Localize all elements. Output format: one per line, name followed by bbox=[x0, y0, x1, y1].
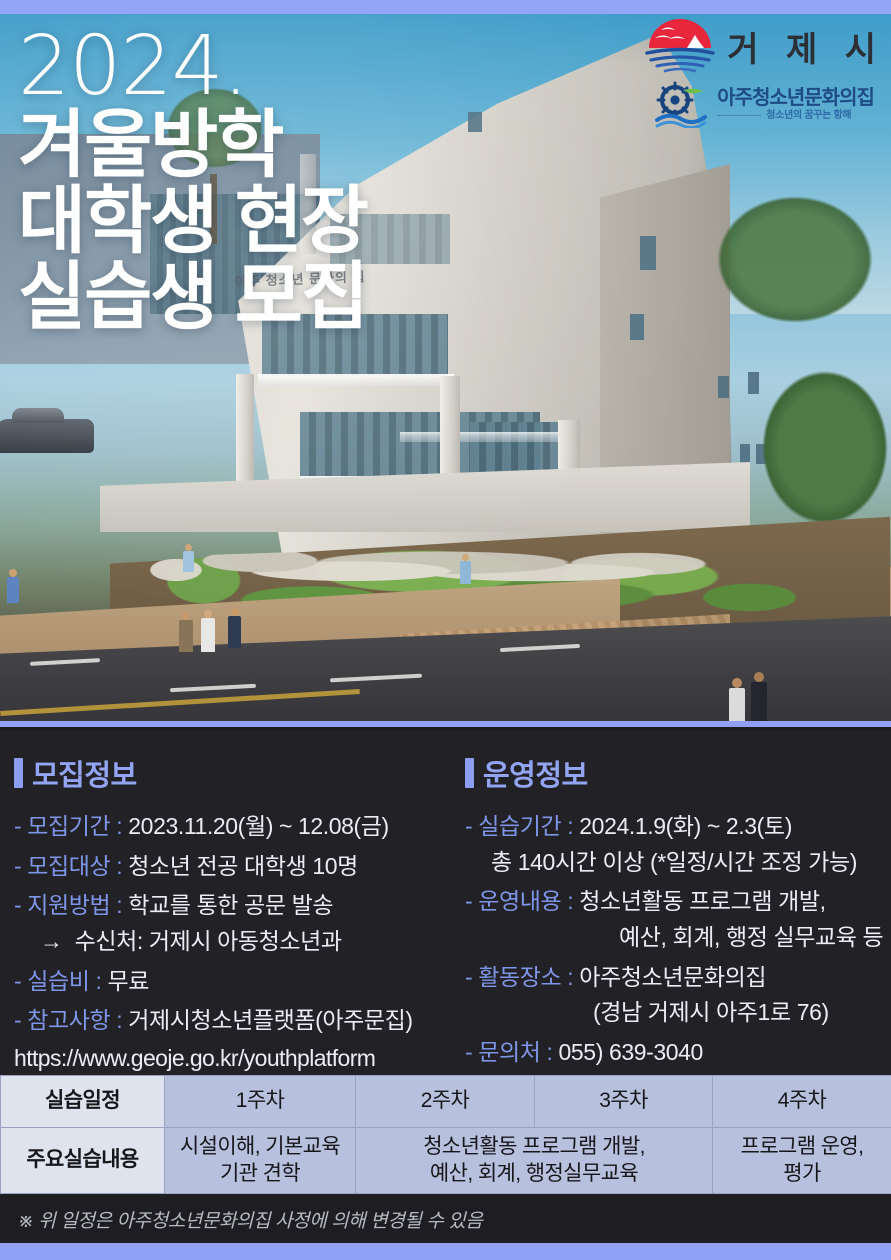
headline-year: 2024. bbox=[18, 28, 367, 107]
poster-headline: 2024. 겨울방학 대학생 현장 실습생 모집 bbox=[18, 28, 367, 335]
bottom-accent-bar bbox=[0, 1243, 891, 1260]
recruit-item-notes: - 참고사항 : 거제시청소년플랫폼(아주문집) bbox=[14, 1004, 464, 1037]
table-cell-week23-content: 청소년활동 프로그램 개발,예산, 회계, 행정실무교육 bbox=[356, 1128, 713, 1194]
table-cell-week1-content: 시설이해, 기본교육기관 견학 bbox=[165, 1128, 356, 1194]
operation-item-location-label: - 활동장소 : bbox=[465, 964, 573, 990]
window-icon bbox=[468, 112, 482, 132]
ship-wheel-icon bbox=[653, 80, 707, 128]
recruit-item-target-value: 청소년 전공 대학생 10명 bbox=[128, 853, 358, 879]
headline-line-1: 겨울방학 bbox=[18, 107, 367, 183]
operation-item-location: - 활동장소 : 아주청소년문화의집 bbox=[465, 961, 885, 994]
pedestrian-figure bbox=[228, 608, 242, 648]
logo-group: 거 제 시 bbox=[643, 18, 885, 128]
window-icon bbox=[630, 314, 644, 340]
schedule-footnote-text: ※ 위 일정은 아주청소년문화의집 사정에 의해 변경될 수 있음 bbox=[0, 1206, 482, 1233]
table-row: 실습일정 1주차 2주차 3주차 4주차 bbox=[1, 1076, 891, 1128]
table-cell-week4-content: 프로그램 운영,평가 bbox=[713, 1128, 891, 1194]
pedestrian-figure bbox=[460, 554, 472, 584]
recruit-item-target: - 모집대상 : 청소년 전공 대학생 10명 bbox=[14, 850, 464, 883]
recruit-item-fee-label: - 실습비 : bbox=[14, 968, 102, 994]
pedestrian-figure bbox=[183, 544, 195, 572]
pedestrian-figure bbox=[728, 678, 746, 721]
recruit-item-recipient: → 수신처: 거제시 아동청소년과 bbox=[14, 925, 464, 958]
schedule-footnote: ※ 위 일정은 아주청소년문화의집 사정에 의해 변경될 수 있음 bbox=[0, 1195, 891, 1243]
pedestrian-figure bbox=[178, 612, 194, 652]
recruit-item-recipient-value: 수신처: 거제시 아동청소년과 bbox=[75, 928, 342, 954]
operation-item-content-cont: 예산, 회계, 행정 실무교육 등 bbox=[465, 921, 885, 954]
recruit-item-notes-label: - 참고사항 : bbox=[14, 1007, 122, 1033]
recruit-item-target-label: - 모집대상 : bbox=[14, 853, 122, 879]
geoje-city-emblem-icon bbox=[643, 18, 717, 74]
section-divider-shadow bbox=[0, 727, 891, 730]
table-rowheader-schedule: 실습일정 bbox=[1, 1076, 165, 1128]
operation-item-hours: 총 140시간 이상 (*일정/시간 조정 가능) bbox=[465, 846, 885, 879]
operation-item-location-value: 아주청소년문화의집 bbox=[579, 964, 766, 990]
top-accent-bar bbox=[0, 0, 891, 14]
geoje-city-logo: 거 제 시 bbox=[643, 18, 885, 74]
operation-item-content-value: 청소년활동 프로그램 개발, bbox=[579, 888, 825, 914]
table-header-week1: 1주차 bbox=[165, 1076, 356, 1128]
balcony-railing bbox=[258, 374, 454, 386]
recruit-section-header: 모집정보 bbox=[14, 752, 464, 794]
operation-item-content: - 운영내용 : 청소년활동 프로그램 개발, bbox=[465, 885, 885, 918]
operation-info-column: 운영정보 - 실습기간 : 2024.1.9(화) ~ 2.3(토) 총 140… bbox=[465, 730, 885, 1076]
window-icon bbox=[640, 236, 656, 270]
operation-item-contact-label: - 문의처 : bbox=[465, 1039, 553, 1065]
operation-section-header: 운영정보 bbox=[465, 752, 885, 794]
pedestrian-figure bbox=[750, 672, 768, 721]
information-section: 모집정보 - 모집기간 : 2023.11.20(월) ~ 12.08(금) -… bbox=[0, 730, 891, 1075]
building-column bbox=[236, 374, 254, 492]
headline-line-2: 대학생 현장 bbox=[18, 183, 367, 259]
recruit-item-period-label: - 모집기간 : bbox=[14, 813, 122, 839]
aju-youth-center-logo: 아주청소년문화의집 청소년의 꿈꾸는 항해 bbox=[653, 80, 885, 128]
table-rowheader-content: 주요실습내용 bbox=[1, 1128, 165, 1194]
table-row: 주요실습내용 시설이해, 기본교육기관 견학 청소년활동 프로그램 개발,예산,… bbox=[1, 1128, 891, 1194]
tree-icon bbox=[690, 174, 891, 364]
aju-center-name: 아주청소년문화의집 bbox=[717, 88, 874, 108]
operation-item-contact-value: 055) 639-3040 bbox=[559, 1039, 703, 1065]
operation-section-title: 운영정보 bbox=[483, 752, 588, 794]
poster-canvas: 아주 청소년 문화의 집 bbox=[0, 0, 891, 1260]
operation-item-contact: - 문의처 : 055) 639-3040 bbox=[465, 1036, 885, 1069]
arrow-right-icon: → bbox=[40, 928, 63, 954]
operation-item-period-value: 2024.1.9(화) ~ 2.3(토) bbox=[579, 813, 792, 839]
operation-item-content-label: - 운영내용 : bbox=[465, 888, 573, 914]
recruit-item-fee: - 실습비 : 무료 bbox=[14, 965, 464, 998]
aju-slogan-text: 청소년의 꿈꾸는 항해 bbox=[766, 111, 851, 121]
operation-item-period-label: - 실습기간 : bbox=[465, 813, 573, 839]
recruit-item-fee-value: 무료 bbox=[108, 968, 150, 994]
recruit-item-period-value: 2023.11.20(월) ~ 12.08(금) bbox=[128, 813, 389, 839]
aju-slogan: 청소년의 꿈꾸는 항해 bbox=[717, 111, 874, 121]
balcony-railing bbox=[400, 432, 580, 442]
pedestrian-figure bbox=[200, 610, 216, 652]
headline-line-3: 실습생 모집 bbox=[18, 259, 367, 335]
section-accent-bar bbox=[14, 758, 23, 788]
youth-platform-url[interactable]: https://www.geoje.go.kr/youthplatform bbox=[14, 1042, 464, 1075]
pedestrian-figure bbox=[6, 569, 20, 603]
section-accent-bar bbox=[465, 758, 474, 788]
recruit-item-period: - 모집기간 : 2023.11.20(월) ~ 12.08(금) bbox=[14, 810, 464, 843]
operation-item-period: - 실습기간 : 2024.1.9(화) ~ 2.3(토) bbox=[465, 810, 885, 843]
recruit-section-title: 모집정보 bbox=[32, 752, 137, 794]
schedule-table: 실습일정 1주차 2주차 3주차 4주차 주요실습내용 시설이해, 기본교육기관… bbox=[0, 1075, 891, 1194]
table-header-week2: 2주차 bbox=[356, 1076, 535, 1128]
recruit-item-method-value: 학교를 통한 공문 발송 bbox=[128, 892, 333, 918]
recruit-info-column: 모집정보 - 모집기간 : 2023.11.20(월) ~ 12.08(금) -… bbox=[14, 730, 464, 1082]
table-header-week3: 3주차 bbox=[535, 1076, 713, 1128]
recruit-item-method-label: - 지원방법 : bbox=[14, 892, 122, 918]
recruit-item-notes-value: 거제시청소년플랫폼(아주문집) bbox=[128, 1007, 412, 1033]
parked-car bbox=[0, 419, 94, 453]
aju-wordmark-block: 아주청소년문화의집 청소년의 꿈꾸는 항해 bbox=[717, 88, 874, 121]
recruit-item-method: - 지원방법 : 학교를 통한 공문 발송 bbox=[14, 889, 464, 922]
window-icon bbox=[718, 376, 729, 398]
operation-item-address: (경남 거제시 아주1로 76) bbox=[465, 996, 885, 1029]
schedule-table-wrapper: 실습일정 1주차 2주차 3주차 4주차 주요실습내용 시설이해, 기본교육기관… bbox=[0, 1075, 891, 1194]
table-header-week4: 4주차 bbox=[713, 1076, 891, 1128]
geoje-city-wordmark: 거 제 시 bbox=[727, 22, 885, 71]
